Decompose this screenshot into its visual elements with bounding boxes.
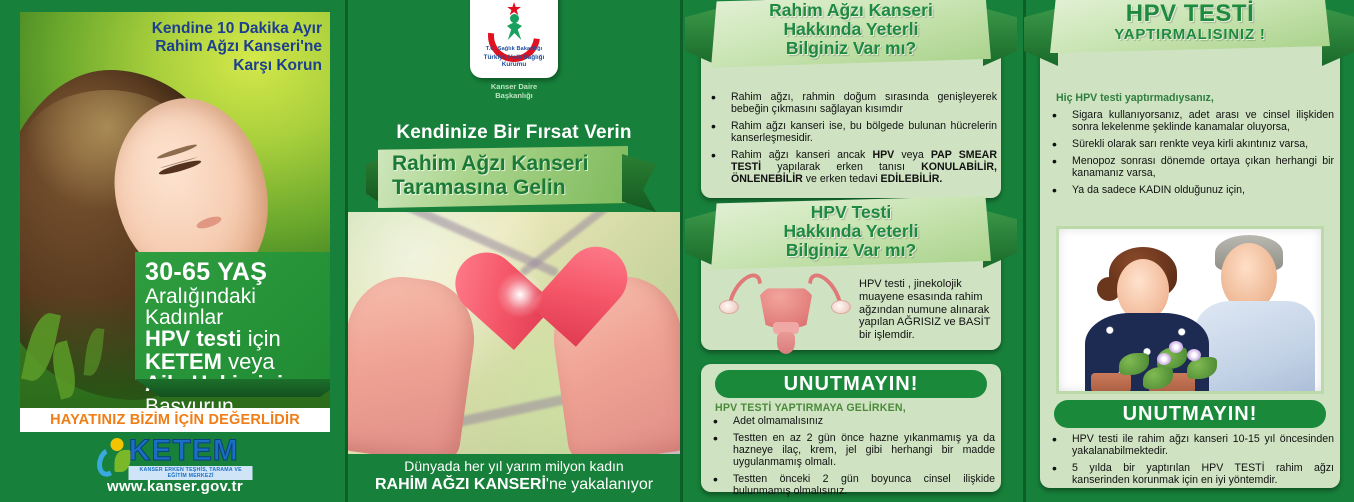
reminder-title: UNUTMAYIN! xyxy=(1123,403,1258,426)
emphasis-text: HPV xyxy=(872,149,894,161)
woman-head xyxy=(1117,259,1169,321)
age-range-callout: 30-65 YAŞ Aralığındaki Kadınlar HPV test… xyxy=(135,252,330,380)
body-text: Testten en az 2 gün önce hazne yıkanmamı… xyxy=(733,432,995,468)
panel1-headline: Kendine 10 Dakika Ayır Rahim Ağzı Kanser… xyxy=(60,20,322,75)
body-text: ve erken tedavi xyxy=(803,173,881,185)
ribbon-text-line-1: Rahim Ağzı Kanseri xyxy=(392,152,628,176)
ketem-logo: KETEM KANSER ERKEN TEŞHİS, TARAMA VE EĞİ… xyxy=(98,437,253,480)
paper-heart xyxy=(451,251,577,375)
panel2-headline: Kendinize Bir Fırsat Verin xyxy=(348,122,680,144)
ovary-left xyxy=(719,300,739,314)
emphasis-text: EDİLEBİLİR. xyxy=(881,173,943,185)
list-item: HPV testi ile rahim ağzı kanseri 10-15 y… xyxy=(1046,434,1334,458)
headline-line-3: Karşı Korun xyxy=(60,57,322,75)
list-item: Testten en az 2 gün önce hazne yıkanmamı… xyxy=(707,433,995,469)
flower xyxy=(1169,341,1183,353)
body-text: Rahim ağzı, rahmin doğum sırasında geniş… xyxy=(731,91,997,115)
list-item: Sigara kullanıyorsanız, adet arası ve ci… xyxy=(1046,110,1334,134)
card-title: HPV TESTİ YAPTIRMALISINIZ ! xyxy=(1058,1,1322,43)
hpv-test-description: HPV testi , jinekolojik muayene esasında… xyxy=(859,278,993,342)
card-title-sub: YAPTIRMALISINIZ ! xyxy=(1058,27,1322,43)
body-text: Sürekli olarak sarı renkte veya kirli ak… xyxy=(1072,138,1308,150)
body-text: Adet olmamalısınız xyxy=(733,415,823,427)
ketem-wordmark: KETEM KANSER ERKEN TEŞHİS, TARAMA VE EĞİ… xyxy=(129,437,253,480)
elderly-couple-photo xyxy=(1056,226,1324,394)
flower xyxy=(1187,349,1201,361)
reminder-card-preparation: UNUTMAYIN! HPV TESTİ YAPTIRMAYA GELİRKEN… xyxy=(701,364,1001,492)
reminder-subhead: HPV TESTİ YAPTIRMAYA GELİRKEN, xyxy=(715,402,906,414)
panel-prevention: Kendine 10 Dakika Ayır Rahim Ağzı Kanser… xyxy=(0,0,345,502)
value-slogan-strip: HAYATINIZ BİZİM İÇİN DEĞERLİDİR xyxy=(20,408,330,432)
risk-bullet-list: Sigara kullanıyorsanız, adet arası ve ci… xyxy=(1046,110,1334,202)
caption-line-2: RAHİM AĞZI KANSERİ'ne yakalanıyor xyxy=(348,475,680,495)
ketem-figure-icon xyxy=(98,438,125,478)
value-slogan-text: HAYATINIZ BİZİM İÇİN DEĞERLİDİR xyxy=(50,412,300,428)
person-body xyxy=(507,22,522,40)
age-range-line: HPV testi için xyxy=(145,328,330,350)
panel2-caption: Dünyada her yıl yarım milyon kadın RAHİM… xyxy=(348,458,680,495)
screening-ribbon: Rahim Ağzı Kanseri Taramasına Gelin xyxy=(366,146,656,208)
body-text: Rahim ağzı kanseri ancak xyxy=(731,149,872,161)
card-title-line-3: Bilginiz Var mı? xyxy=(719,39,983,58)
list-item: Menopoz sonrası dönemde ortaya çıkan her… xyxy=(1046,156,1334,180)
body-text: Menopoz sonrası dönemde ortaya çıkan her… xyxy=(1072,155,1334,179)
list-item: Rahim ağzı, rahmin doğum sırasında geniş… xyxy=(705,92,997,116)
card-title-line-2: Hakkında Yeterli xyxy=(719,20,983,39)
reminder-bullet-list: HPV testi ile rahim ağzı kanseri 10-15 y… xyxy=(1046,434,1334,492)
body-text: 5 yılda bir yaptırılan xyxy=(1072,462,1201,474)
ministry-department-label: Kanser Daire Başkanlığı xyxy=(444,82,584,101)
headline-line-2: Rahim Ağzı Kanseri'ne xyxy=(60,38,322,56)
ministry-line-2b: Kurumu xyxy=(470,61,558,68)
ministry-line-2a: Türkiye Halk Sağlığı xyxy=(470,54,558,61)
card-title-main: HPV TESTİ xyxy=(1058,1,1322,27)
card-title-line-2: Hakkında Yeterli xyxy=(719,222,983,241)
brochure-page: Kendine 10 Dakika Ayır Rahim Ağzı Kanser… xyxy=(0,0,1354,502)
panel-screening-invite: ★ T.C. Sağlık Bakanlığı Türkiye Halk Sağ… xyxy=(348,0,680,502)
card-banner: HPV TESTİ YAPTIRMALISINIZ ! xyxy=(1050,0,1330,53)
caption-line-1: Dünyada her yıl yarım milyon kadın xyxy=(348,458,680,475)
card-title-line-3: Bilginiz Var mı? xyxy=(719,241,983,260)
department-line-1: Kanser Daire xyxy=(444,82,584,91)
banner-face: HPV Testi Hakkında Yeterli Bilginiz Var … xyxy=(711,196,991,270)
flower xyxy=(1157,353,1171,365)
banner-face: HPV TESTİ YAPTIRMALISINIZ ! xyxy=(1050,0,1330,53)
panel-information: Rahim Ağzı Kanseri Hakkında Yeterli Bilg… xyxy=(683,0,1023,502)
headline-line-1: Kendine 10 Dakika Ayır xyxy=(60,20,322,38)
reminder-pill: UNUTMAYIN! xyxy=(1054,400,1326,428)
department-line-2: Başkanlığı xyxy=(444,91,584,100)
cervical-cancer-info-card: Rahim Ağzı Kanseri Hakkında Yeterli Bilg… xyxy=(701,14,1001,198)
body-text: Ya da sadece KADIN olduğunuz için, xyxy=(1072,184,1245,196)
list-item: Adet olmamalısınız xyxy=(707,416,995,428)
ribbon-text: Rahim Ağzı Kanseri Taramasına Gelin xyxy=(392,152,628,199)
ribbon-text-line-2: Taramasına Gelin xyxy=(392,176,628,200)
list-item: Ya da sadece KADIN olduğunuz için, xyxy=(1046,185,1334,197)
ministry-line-2: Türkiye Halk Sağlığı Kurumu xyxy=(470,54,558,69)
reminder-bullet-list: Adet olmamalısınızTestten en az 2 gün ön… xyxy=(707,416,995,502)
list-item: Rahim ağzı kanseri ancak HPV veya PAP SM… xyxy=(705,150,997,186)
card-title: HPV Testi Hakkında Yeterli Bilginiz Var … xyxy=(719,203,983,260)
ministry-of-health-logo: ★ T.C. Sağlık Bakanlığı Türkiye Halk Sağ… xyxy=(470,0,558,78)
woman-photo: Kendine 10 Dakika Ayır Rahim Ağzı Kanser… xyxy=(20,12,330,412)
body-text: Rahim ağzı kanseri ise, bu bölgede bulun… xyxy=(731,120,997,144)
ketem-name: KETEM xyxy=(129,437,253,466)
card-title: Rahim Ağzı Kanseri Hakkında Yeterli Bilg… xyxy=(719,1,983,58)
body-text: Testten önceki 2 gün boyunca cinsel iliş… xyxy=(733,473,995,497)
age-range-line: Kadınlar xyxy=(145,307,330,328)
card-title-line-1: Rahim Ağzı Kanseri xyxy=(719,1,983,20)
list-item: Sürekli olarak sarı renkte veya kirli ak… xyxy=(1046,139,1334,151)
intro-text: Hiç HPV testi yaptırmadıysanız, xyxy=(1056,92,1214,104)
hpv-test-info-card: HPV Testi Hakkında Yeterli Bilginiz Var … xyxy=(701,216,1001,350)
reminder-title: UNUTMAYIN! xyxy=(784,373,919,396)
panel-who-should-test: HPV TESTİ YAPTIRMALISINIZ ! Hiç HPV test… xyxy=(1026,0,1354,502)
hpv-test-recommendation-card: HPV TESTİ YAPTIRMALISINIZ ! Hiç HPV test… xyxy=(1040,14,1340,488)
flower-pot-right xyxy=(1113,333,1235,394)
caption-emphasis: RAHİM AĞZI KANSERİ xyxy=(375,476,546,493)
ribbon-fold xyxy=(135,379,330,397)
person-figure-icon xyxy=(504,14,524,40)
reminder-pill: UNUTMAYIN! xyxy=(715,370,987,398)
age-range-line: 30-65 YAŞ xyxy=(145,260,330,286)
list-item: 5 yılda bir yaptırılan HPV TESTİ rahim a… xyxy=(1046,463,1334,487)
info-bullet-list: Rahim ağzı, rahmin doğum sırasında geniş… xyxy=(705,92,997,191)
card-title-line-1: HPV Testi xyxy=(719,203,983,222)
leaf xyxy=(1119,353,1149,375)
list-item: Testten önceki 2 gün boyunca cinsel iliş… xyxy=(707,474,995,498)
card-banner: HPV Testi Hakkında Yeterli Bilginiz Var … xyxy=(711,196,991,270)
body-text: veya xyxy=(894,149,931,161)
uterus-illustration-icon xyxy=(715,278,855,348)
ketem-website-url[interactable]: www.kanser.gov.tr xyxy=(20,478,330,495)
caption-tail: 'ne yakalanıyor xyxy=(546,476,653,493)
hands-holding-heart-photo xyxy=(348,212,680,454)
banner-face: Rahim Ağzı Kanseri Hakkında Yeterli Bilg… xyxy=(711,0,991,68)
person-head xyxy=(510,14,519,23)
body-text: HPV testi ile rahim ağzı kanseri 10-15 y… xyxy=(1072,433,1334,457)
age-range-line: KETEM veya xyxy=(145,351,330,373)
ovary-right xyxy=(831,300,851,314)
vaginal-canal xyxy=(777,332,795,354)
ketem-logo-area: KETEM KANSER ERKEN TEŞHİS, TARAMA VE EĞİ… xyxy=(20,432,330,502)
body-text: yapılarak erken tanısı xyxy=(761,161,921,173)
list-item: Rahim ağzı kanseri ise, bu bölgede bulun… xyxy=(705,121,997,145)
heart-shine xyxy=(496,270,544,318)
ministry-line-1: T.C. Sağlık Bakanlığı xyxy=(470,46,558,52)
body-text: HPV TESTİ xyxy=(1201,462,1264,474)
age-range-line: Aralığındaki xyxy=(145,286,330,307)
card-banner: Rahim Ağzı Kanseri Hakkında Yeterli Bilg… xyxy=(711,0,991,68)
body-text: Sigara kullanıyorsanız, adet arası ve ci… xyxy=(1072,109,1334,133)
